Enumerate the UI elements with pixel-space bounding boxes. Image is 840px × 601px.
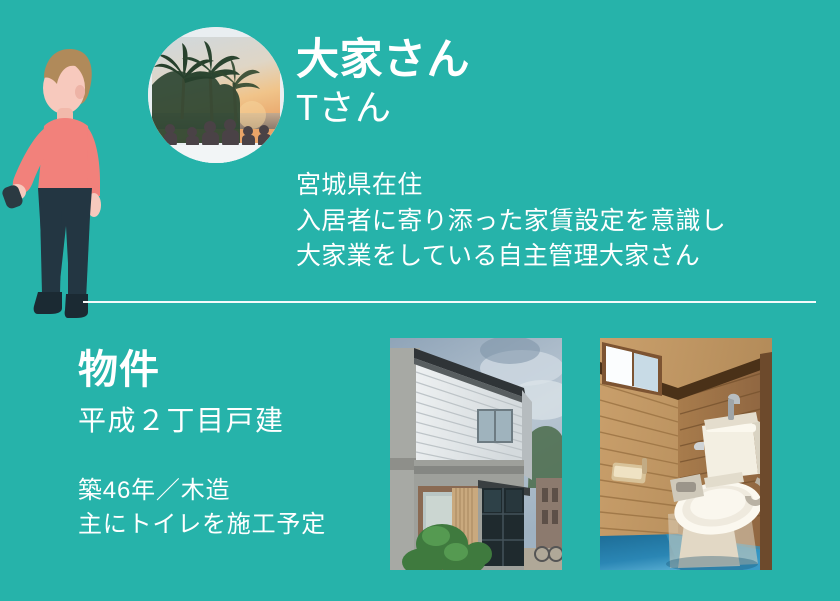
house-exterior-photo	[390, 338, 562, 570]
description-line-1: 宮城県在住	[296, 168, 826, 204]
toilet-interior-image	[600, 338, 772, 570]
property-section-title: 物件	[78, 348, 378, 392]
section-divider	[83, 301, 816, 303]
person-figure-icon	[0, 20, 130, 330]
property-detail-line-1: 築46年／木造	[78, 474, 378, 509]
landlord-name: Tさん	[296, 86, 816, 129]
landlord-header: 大家さん Tさん	[296, 36, 816, 129]
avatar-photo-tropical-sunset	[148, 27, 284, 163]
property-detail-line-2: 主にトイレを施工予定	[78, 508, 378, 543]
avatar	[148, 27, 284, 163]
property-name: 平成２丁目戸建	[78, 404, 378, 438]
house-exterior-image	[390, 338, 562, 570]
description-line-3: 大家業をしている自主管理大家さん	[296, 239, 826, 275]
standing-person-illustration	[0, 20, 130, 330]
page-title: 大家さん	[296, 36, 816, 84]
description-line-2: 入居者に寄り添った家賃設定を意識し	[296, 204, 826, 240]
slide-canvas: 大家さん Tさん 宮城県在住 入居者に寄り添った家賃設定を意識し 大家業をしてい…	[0, 0, 840, 601]
landlord-description: 宮城県在住 入居者に寄り添った家賃設定を意識し 大家業をしている自主管理大家さん	[296, 168, 826, 275]
property-details: 築46年／木造 主にトイレを施工予定	[78, 474, 378, 544]
toilet-interior-photo	[600, 338, 772, 570]
property-section: 物件 平成２丁目戸建 築46年／木造 主にトイレを施工予定	[78, 348, 378, 543]
